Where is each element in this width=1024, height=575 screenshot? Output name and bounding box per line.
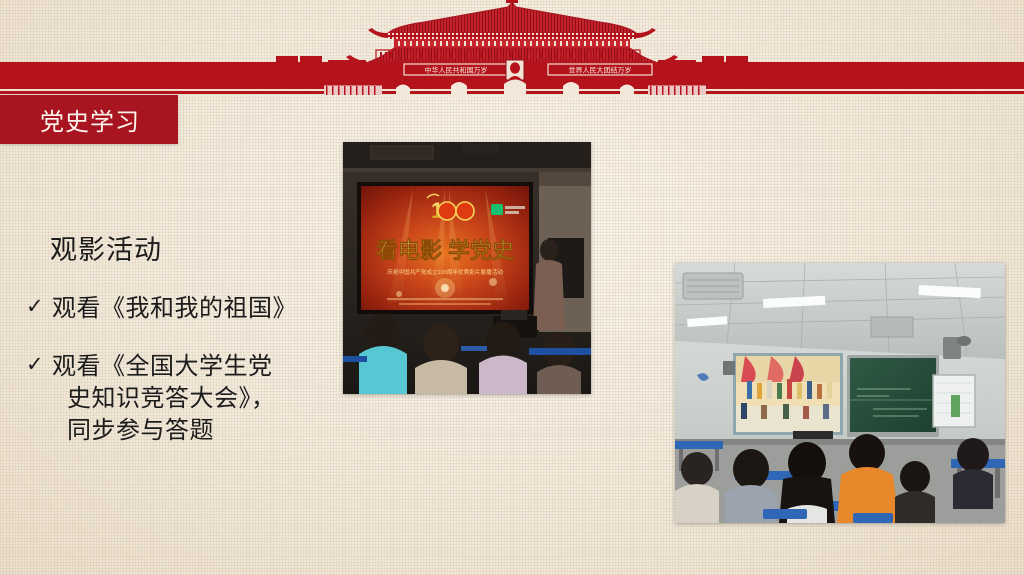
top-banner: 中华人民共和国万岁 世界人民大团结万岁 xyxy=(0,0,1024,100)
list-item-line: 观看《全国大学生党 xyxy=(52,351,276,383)
content-column: 观影活动 ✓ 观看《我和我的祖国》 ✓ 观看《全国大学生党 史知识竞答大会》， … xyxy=(26,228,344,473)
screen-title: 看电影 学党史 xyxy=(376,238,515,263)
list-item-line: 同步参与答题 xyxy=(52,415,276,447)
content-heading: 观影活动 xyxy=(50,228,344,267)
list-item-line: 史知识竞答大会》， xyxy=(52,383,276,415)
list-item: ✓ 观看《我和我的祖国》 xyxy=(26,293,344,325)
section-title-tab[interactable]: 党史学习 xyxy=(0,95,178,144)
list-item-text: 观看《我和我的祖国》 xyxy=(52,293,297,325)
photo-2-image xyxy=(675,263,1005,523)
checkmark-icon: ✓ xyxy=(26,351,52,379)
list-item-line: 观看《我和我的祖国》 xyxy=(52,293,297,325)
banner-right-slogan: 世界人民大团结万岁 xyxy=(569,66,632,75)
photo-classroom-students-watching-screen[interactable] xyxy=(675,263,1005,523)
list-item-text: 观看《全国大学生党 史知识竞答大会》， 同步参与答题 xyxy=(52,351,276,447)
checkmark-icon: ✓ xyxy=(26,293,52,321)
page-title: 党史学习 xyxy=(40,102,140,137)
banner-left-slogan: 中华人民共和国万岁 xyxy=(425,66,488,75)
screen-subtitle: 庆祝中国共产党成立100周年优秀影片展播活动 xyxy=(387,268,503,276)
photo-classroom-projector-film-study[interactable]: 1 看电影 学党史 庆祝中国共产党成立100周年优秀影片展播活动 xyxy=(343,142,591,394)
screen-scene xyxy=(736,356,840,432)
slide-canvas: 中华人民共和国万岁 世界人民大团结万岁 xyxy=(0,0,1024,575)
list-item: ✓ 观看《全国大学生党 史知识竞答大会》， 同步参与答题 xyxy=(26,351,344,447)
photo-1-image: 1 看电影 学党史 庆祝中国共产党成立100周年优秀影片展播活动 xyxy=(343,142,591,394)
tiananmen-wall-icon: 中华人民共和国万岁 世界人民大团结万岁 xyxy=(276,58,748,98)
